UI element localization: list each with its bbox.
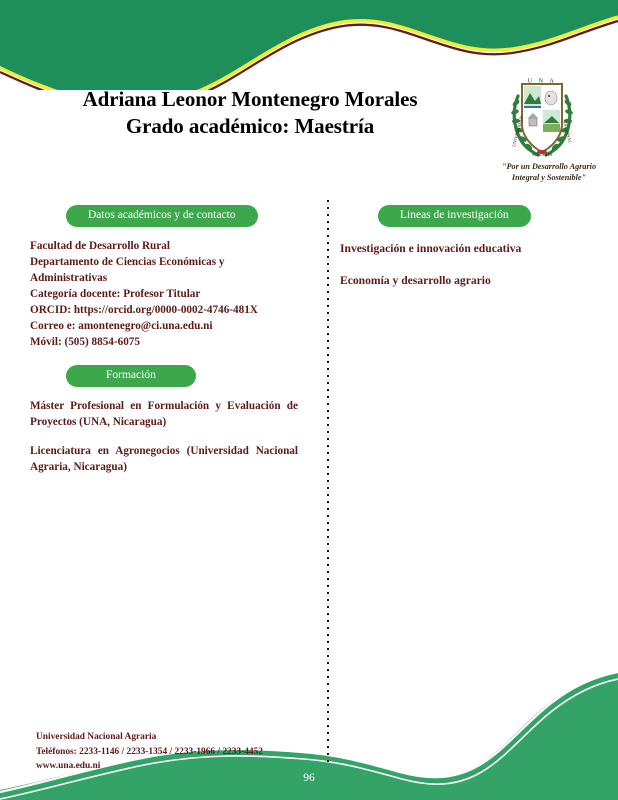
page-subtitle: Grado académico: Maestría	[0, 113, 500, 140]
page-number: 96	[0, 772, 618, 784]
formacion-item: Licenciatura en Agronegocios (Universida…	[30, 444, 298, 476]
contact-line-email: Correo e: amontenegro@ci.una.edu.ni	[30, 319, 310, 335]
contact-line-faculty: Facultad de Desarrollo Rural	[30, 239, 310, 255]
header-title-block: Adriana Leonor Montenegro Morales Grado …	[0, 86, 500, 141]
section-pill-formacion: Formación	[66, 365, 196, 387]
document-page: Adriana Leonor Montenegro Morales Grado …	[0, 0, 618, 800]
footer-phones: Teléfonos: 2233-1146 / 2233-1354 / 2233-…	[36, 745, 263, 760]
contact-details-block: Facultad de Desarrollo Rural Departament…	[30, 239, 310, 350]
lineas-investigacion-list: Investigación e innovación educativa Eco…	[340, 241, 602, 289]
column-divider-dotted-line	[327, 200, 329, 762]
page-title: Adriana Leonor Montenegro Morales	[0, 86, 500, 113]
section-pill-lineas-investigacion: Lineas de investigación	[378, 205, 531, 227]
section-header-contact-row: Datos académicos y de contacto	[30, 205, 310, 227]
footer-institution: Universidad Nacional Agraria	[36, 730, 263, 745]
contact-line-department-1: Departamento de Ciencias Económicas y	[30, 255, 310, 271]
university-motto: "Por un Desarrollo Agrario Integral y So…	[486, 162, 612, 184]
footer-contact-info: Universidad Nacional Agraria Teléfonos: …	[36, 730, 263, 774]
contact-line-mobile: Móvil: (505) 8854-6075	[30, 335, 310, 351]
formacion-section: Formación Máster Profesional en Formulac…	[30, 365, 310, 476]
left-column: Datos académicos y de contacto Facultad …	[30, 205, 310, 488]
right-column: Lineas de investigación Investigación e …	[340, 205, 602, 304]
section-header-formacion-row: Formación	[30, 365, 310, 387]
contact-line-department-2: Administrativas	[30, 271, 310, 287]
section-pill-datos-academicos: Datos académicos y de contacto	[66, 205, 258, 227]
motto-line-1: "Por un Desarrollo Agrario	[486, 162, 612, 173]
section-header-lineas-row: Lineas de investigación	[340, 205, 602, 227]
linea-item: Investigación e innovación educativa	[340, 241, 602, 257]
formacion-item: Máster Profesional en Formulación y Eval…	[30, 399, 298, 431]
contact-line-orcid: ORCID: https://orcid.org/0000-0002-4746-…	[30, 303, 310, 319]
logo-letters: U N A	[528, 78, 557, 85]
contact-line-category: Categoría docente: Profesor Titular	[30, 287, 310, 303]
linea-item: Economía y desarrollo agrario	[340, 273, 602, 289]
motto-line-2: Integral y Sostenible"	[486, 173, 612, 184]
university-crest-logo: U N A UNIVERSIDAD NACIONAL AGRARIA	[508, 76, 576, 158]
